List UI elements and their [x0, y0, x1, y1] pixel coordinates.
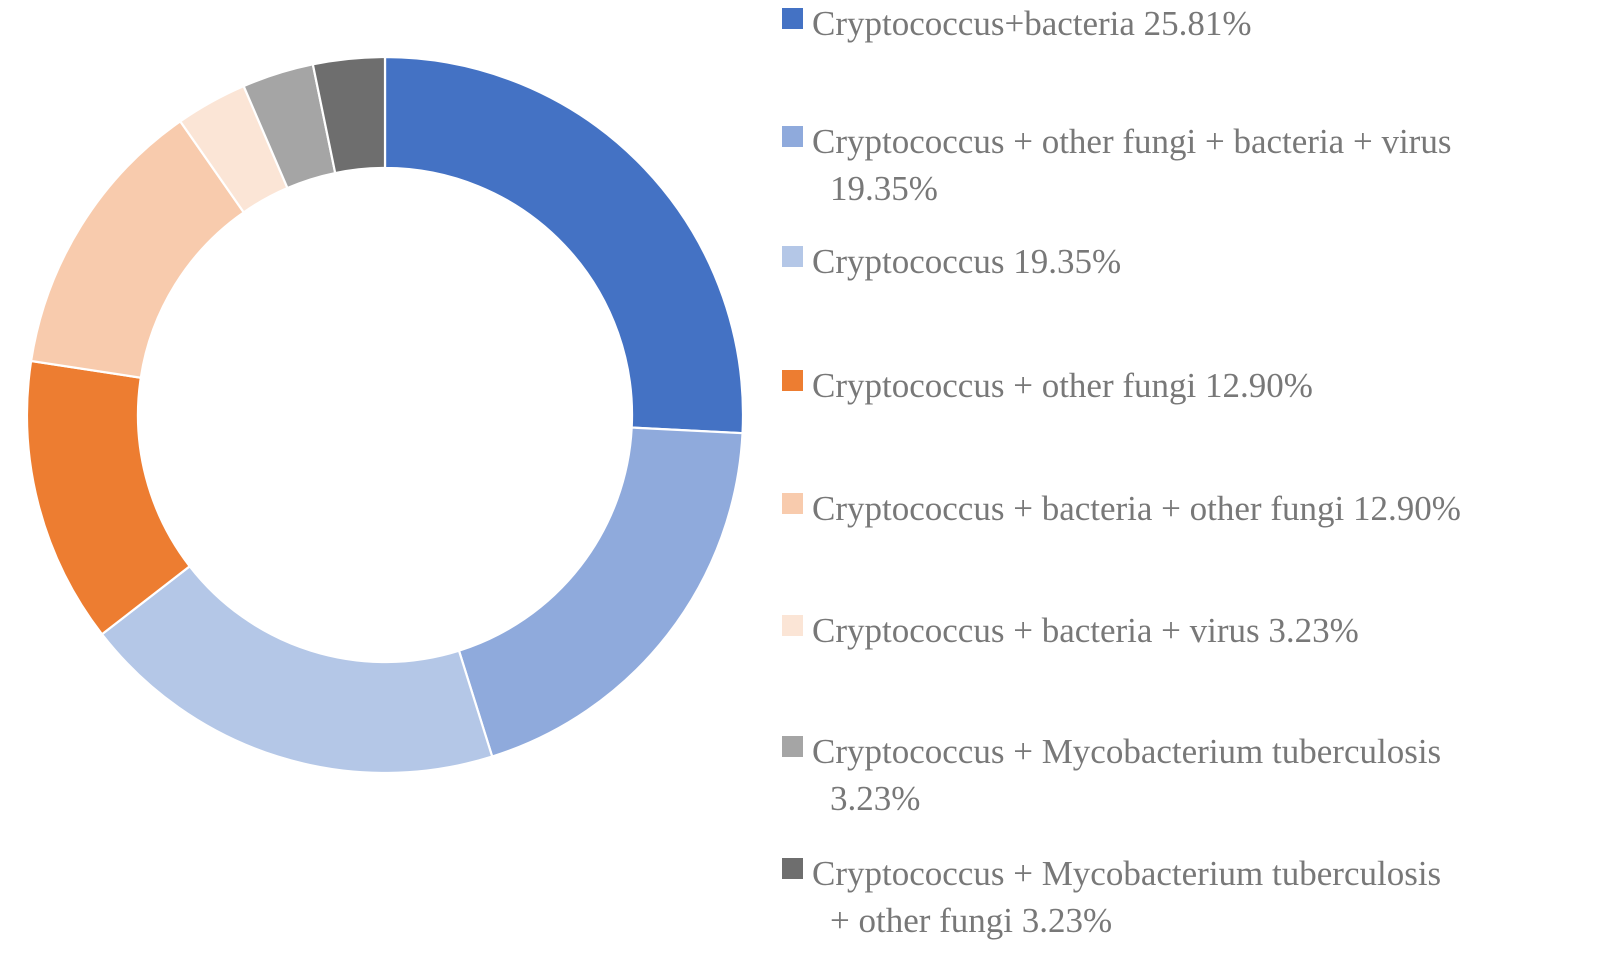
legend-item-label-line2: 3.23% [812, 775, 1615, 822]
legend-item-label: Cryptococcus + other fungi + bacteria + … [812, 118, 1615, 212]
legend-swatch-icon [782, 8, 803, 29]
legend-item[interactable]: Cryptococcus 19.35% [782, 238, 1615, 285]
legend-item-label: Cryptococcus + Mycobacterium tuberculosi… [812, 728, 1615, 822]
donut-slice[interactable] [102, 566, 492, 773]
chart-figure: Cryptococcus+bacteria 25.81%Cryptococcus… [0, 0, 1615, 973]
legend-item[interactable]: Cryptococcus + bacteria + other fungi 12… [782, 485, 1615, 532]
donut-slice-group [27, 57, 743, 773]
legend-swatch-icon [782, 370, 803, 391]
legend-item-label: Cryptococcus + bacteria + other fungi 12… [812, 485, 1615, 532]
legend-item-label: Cryptococcus 19.35% [812, 238, 1615, 285]
legend-item[interactable]: Cryptococcus + bacteria + virus 3.23% [782, 607, 1615, 654]
donut-slice[interactable] [459, 428, 743, 757]
legend-item[interactable]: Cryptococcus + other fungi 12.90% [782, 362, 1615, 409]
donut-chart-area [0, 0, 770, 973]
legend-swatch-icon [782, 615, 803, 636]
legend-item[interactable]: Cryptococcus + Mycobacterium tuberculosi… [782, 728, 1615, 822]
legend-swatch-icon [782, 858, 803, 879]
legend-swatch-icon [782, 246, 803, 267]
legend-swatch-icon [782, 126, 803, 147]
donut-chart-svg [0, 0, 770, 973]
legend-item-label: Cryptococcus + Mycobacterium tuberculosi… [812, 850, 1615, 944]
chart-legend: Cryptococcus+bacteria 25.81%Cryptococcus… [770, 0, 1615, 973]
legend-item-label: Cryptococcus+bacteria 25.81% [812, 0, 1615, 47]
legend-item-label-line2: + other fungi 3.23% [812, 897, 1615, 944]
legend-item[interactable]: Cryptococcus + other fungi + bacteria + … [782, 118, 1615, 212]
donut-slice[interactable] [385, 57, 743, 433]
legend-item-label: Cryptococcus + bacteria + virus 3.23% [812, 607, 1615, 654]
legend-item-label: Cryptococcus + other fungi 12.90% [812, 362, 1615, 409]
legend-item-label-line2: 19.35% [812, 165, 1615, 212]
legend-swatch-icon [782, 493, 803, 514]
legend-item[interactable]: Cryptococcus + Mycobacterium tuberculosi… [782, 850, 1615, 944]
legend-item[interactable]: Cryptococcus+bacteria 25.81% [782, 0, 1615, 47]
legend-swatch-icon [782, 736, 803, 757]
